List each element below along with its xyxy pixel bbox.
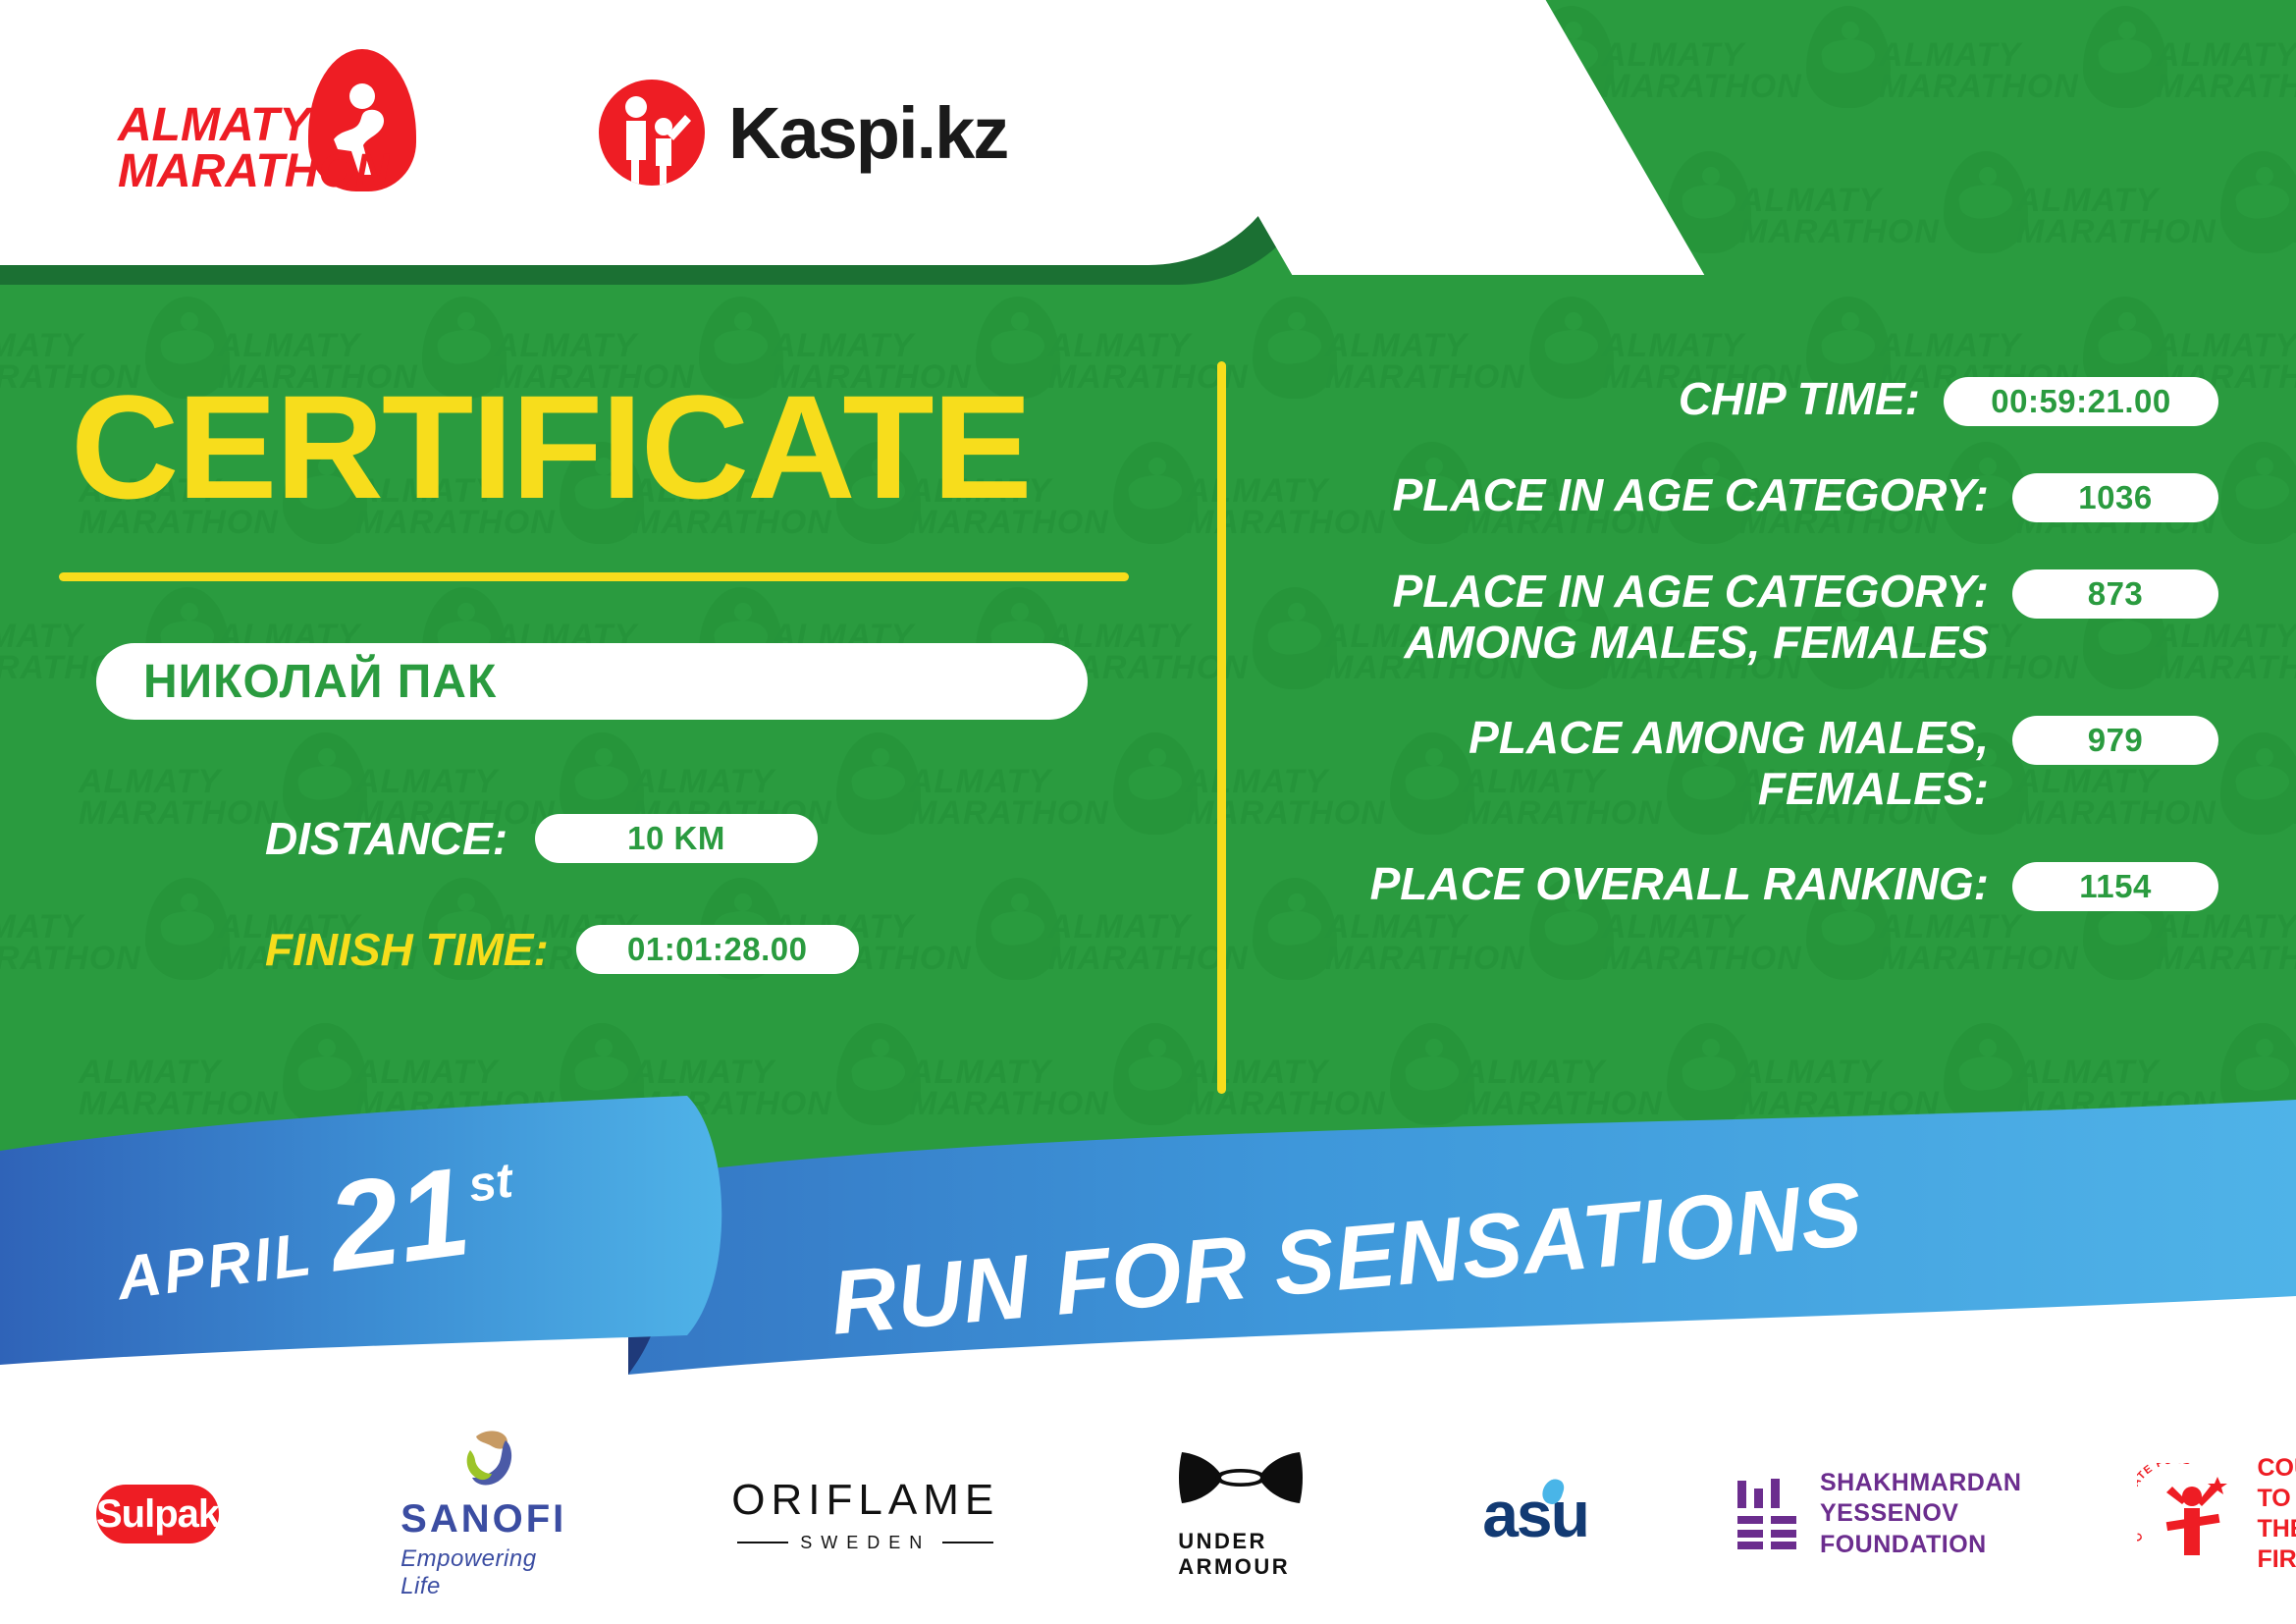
sponsor-sanofi-tagline: Empowering Life [400,1545,566,1600]
watermark-line1: ALMATY [1048,330,1343,361]
watermark-line2: MARATHON [1602,71,1896,102]
watermark-line1: ALMATY [2016,185,2296,216]
distance-value-pill: 10 KM [535,814,818,863]
watermark-drop-icon [2220,151,2296,253]
kaspi-logo: Kaspi.kz [599,80,1007,186]
stat-label: PLACE OVERALL RANKING: [1286,858,2012,909]
watermark-tile: ALMATYMARATHON [1739,185,2034,332]
watermark-line2: MARATHON [0,943,236,974]
watermark-drop-icon [2220,732,2296,835]
watermark-drop-icon [1113,442,1198,544]
almaty-marathon-wordmark: ALMATY MARATHON [118,102,389,194]
watermark-line1: ALMATY [355,766,650,797]
finish-time-value: 01:01:28.00 [627,931,807,968]
watermark-line2: MARATHON [909,797,1203,829]
oriflame-subline: SWEDEN [731,1533,999,1553]
watermark-line1: ALMATY [632,1056,927,1088]
finish-time-label: FINISH TIME: [265,923,549,976]
stat-value-pill: 00:59:21.00 [1944,377,2218,426]
watermark-tile: ALMATYMARATHON [1879,39,2173,187]
watermark-drop-icon [2220,442,2296,544]
watermark-line2: MARATHON [2016,216,2296,247]
sponsor-yessenov-label: SHAKHMARDAN YESSENOV FOUNDATION [1820,1468,2022,1560]
watermark-line1: ALMATY [79,1056,373,1088]
watermark-line1: ALMATY [632,766,927,797]
participant-name-field: НИКОЛАЙ ПАК [96,643,1088,720]
stat-row: PLACE AMONG MALES, FEMALES:979 [1286,712,2218,815]
stat-row: CHIP TIME:00:59:21.00 [1286,373,2218,426]
vertical-divider [1217,361,1226,1094]
stat-value: 1154 [2079,868,2152,905]
kaspi-people-icon [599,80,705,186]
sponsor-corporate-fund: CORPORATE FUND COURAGE TO BE THE FIRST! [2137,1453,2296,1575]
watermark-line1: ALMATY [909,766,1203,797]
stat-label: PLACE AMONG MALES, FEMALES: [1286,712,2012,815]
stat-row: PLACE IN AGE CATEGORY: AMONG MALES, FEMA… [1286,566,2218,669]
distance-value: 10 KM [627,820,725,857]
watermark-drop-icon [1806,6,1891,108]
watermark-line1: ALMATY [0,911,236,943]
watermark-line1: ALMATY [772,330,1066,361]
watermark-drop-icon [1113,732,1198,835]
sponsor-sanofi: SANOFI Empowering Life [400,1429,566,1600]
watermark-line1: ALMATY [79,766,373,797]
watermark-drop-icon [2083,6,2167,108]
event-day: 21 [322,1149,477,1291]
watermark-line1: ALMATY [1739,1056,2034,1088]
event-day-suffix: st [465,1152,516,1214]
sponsor-under-armour-label: UNDER ARMOUR [1178,1529,1304,1580]
sponsor-oriflame: ORIFLAME SWEDEN [731,1476,999,1553]
watermark-tile: ALMATYMARATHON [1602,39,1896,187]
watermark-line1: ALMATY [909,1056,1203,1088]
page-title: CERTIFICATE [71,373,1031,520]
finish-time-row: FINISH TIME: 01:01:28.00 [265,923,859,976]
sanofi-mark-icon [443,1429,525,1491]
watermark-line1: ALMATY [2156,330,2296,361]
stat-row: PLACE IN AGE CATEGORY:1036 [1286,469,2218,522]
watermark-line1: ALMATY [1879,330,2173,361]
stat-value-pill: 873 [2012,569,2218,619]
sponsor-bar: Sulpak SANOFI Empowering Life ORIFLAME S… [0,1404,2296,1624]
stat-label: PLACE IN AGE CATEGORY: [1286,469,2012,520]
certificate-page: ALMATYMARATHONALMATYMARATHONALMATYMARATH… [0,0,2296,1624]
distance-label: DISTANCE: [265,812,507,865]
stat-label: PLACE IN AGE CATEGORY: AMONG MALES, FEMA… [1286,566,2012,669]
watermark-line1: ALMATY [1739,185,2034,216]
watermark-tile: ALMATYMARATHON [2156,39,2296,187]
stat-row: PLACE OVERALL RANKING:1154 [1286,858,2218,911]
marathon-logo-line1: ALMATY [118,102,389,148]
watermark-line1: ALMATY [2156,39,2296,71]
sponsor-oriflame-label: ORIFLAME [731,1476,999,1525]
sponsor-asu: asu [1482,1477,1588,1551]
watermark-drop-icon [976,878,1060,980]
watermark-line1: ALMATY [355,1056,650,1088]
sponsor-sulpak-label: Sulpak [96,1492,219,1537]
sponsor-corporate-fund-label: COURAGE TO BE THE FIRST! [2257,1453,2296,1575]
stat-value: 00:59:21.00 [1991,383,2170,420]
yessenov-mark-icon [1735,1479,1798,1549]
asu-wordmark: asu [1482,1478,1588,1550]
watermark-line1: ALMATY [1602,330,1896,361]
watermark-line2: MARATHON [2156,71,2296,102]
results-stats-list: CHIP TIME:00:59:21.00PLACE IN AGE CATEGO… [1286,373,2218,954]
watermark-line2: MARATHON [1879,71,2173,102]
sponsor-under-armour: UNDER ARMOUR [1178,1448,1304,1580]
watermark-tile: ALMATYMARATHON [0,911,236,1058]
watermark-line1: ALMATY [218,330,512,361]
watermark-tile: ALMATYMARATHON [909,766,1203,913]
distance-row: DISTANCE: 10 KM [265,812,818,865]
watermark-line2: MARATHON [1739,216,2034,247]
finish-time-value-pill: 01:01:28.00 [576,925,859,974]
sponsor-yessenov-foundation: SHAKHMARDAN YESSENOV FOUNDATION [1735,1468,2022,1560]
stat-value-pill: 1036 [2012,473,2218,522]
watermark-drop-icon [145,878,230,980]
stat-label: CHIP TIME: [1286,373,1944,424]
under-armour-icon [1178,1448,1304,1519]
event-ribbon: APRIL 21 st RUN FOR SENSATIONS [0,1090,2296,1414]
almaty-marathon-logo: ALMATY MARATHON [118,59,442,206]
watermark-line1: ALMATY [0,330,236,361]
sponsor-oriflame-sub: SWEDEN [800,1533,931,1553]
marathon-logo-line2: MARATHON [118,148,389,194]
stat-value-pill: 979 [2012,716,2218,765]
watermark-line1: ALMATY [2016,1056,2296,1088]
title-underline [59,572,1129,581]
sponsor-sulpak: Sulpak [96,1485,219,1543]
sponsor-sanofi-label: SANOFI [400,1497,566,1542]
corporate-fund-icon: CORPORATE FUND [2137,1463,2243,1565]
header-logos: ALMATY MARATHON Kaspi.kz [0,0,1227,265]
watermark-line1: ALMATY [1325,330,1620,361]
participant-name: НИКОЛАЙ ПАК [143,655,497,709]
oriflame-rule-right [942,1542,993,1543]
stat-value-pill: 1154 [2012,862,2218,911]
stat-value: 873 [2088,575,2144,613]
watermark-line1: ALMATY [495,330,789,361]
kaspi-wordmark: Kaspi.kz [728,91,1007,175]
watermark-line1: ALMATY [1879,39,2173,71]
watermark-line1: ALMATY [1463,1056,1757,1088]
watermark-line1: ALMATY [1186,1056,1480,1088]
watermark-drop-icon [836,732,921,835]
sponsor-asu-label: asu [1482,1477,1588,1551]
watermark-tile: ALMATYMARATHON [2016,185,2296,332]
watermark-line1: ALMATY [1602,39,1896,71]
watermark-drop-icon [1944,151,2028,253]
stat-value: 1036 [2078,479,2152,516]
oriflame-rule-left [737,1542,788,1543]
stat-value: 979 [2088,722,2144,759]
